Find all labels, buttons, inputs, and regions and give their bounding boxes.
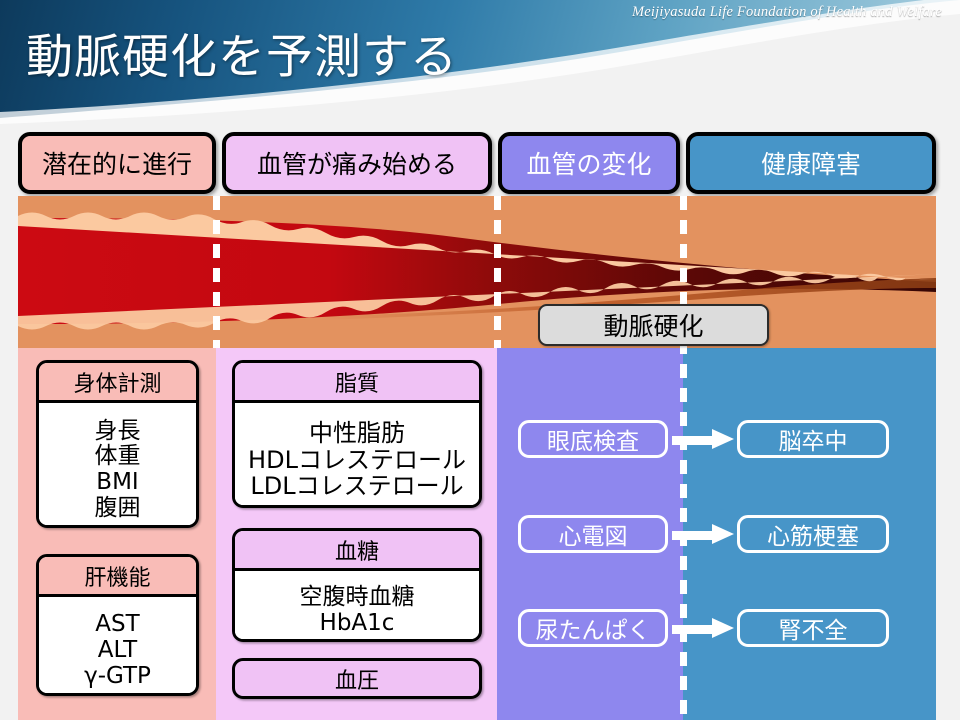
arrow-shaft bbox=[672, 625, 716, 634]
stage-box-latent-progression[interactable]: 潜在的に進行 bbox=[18, 132, 216, 194]
slide-canvas: Meijiyasuda Life Foundation of Health an… bbox=[0, 0, 960, 720]
list-item: LDLコレステロール bbox=[250, 473, 463, 500]
exam-outcome-row: 心電図 心筋梗塞 bbox=[0, 515, 960, 553]
page-title: 動脈硬化を予測する bbox=[26, 18, 458, 87]
outcome-box-stroke[interactable]: 脳卒中 bbox=[737, 420, 889, 458]
arrow-head bbox=[712, 524, 734, 544]
arteriosclerosis-callout: 動脈硬化 bbox=[538, 304, 769, 346]
test-group-card-blood-pressure[interactable]: 血圧 bbox=[232, 658, 482, 699]
arrow-head bbox=[712, 618, 734, 638]
stage-divider-3 bbox=[680, 196, 687, 720]
arrow-shaft bbox=[672, 436, 716, 445]
stage-box-health-impairment[interactable]: 健康障害 bbox=[686, 132, 936, 194]
exam-box-ecg[interactable]: 心電図 bbox=[518, 515, 668, 553]
slide-header-banner: Meijiyasuda Life Foundation of Health an… bbox=[0, 0, 960, 130]
stage-divider-2 bbox=[494, 196, 501, 348]
exam-outcome-row: 眼底検査 脳卒中 bbox=[0, 420, 960, 458]
artery-vessel-graphic bbox=[18, 196, 936, 348]
card-title: 肝機能 bbox=[39, 557, 196, 597]
exam-box-fundus-exam[interactable]: 眼底検査 bbox=[518, 420, 668, 458]
organization-name: Meijiyasuda Life Foundation of Health an… bbox=[632, 4, 942, 21]
arrow-shaft bbox=[672, 531, 716, 540]
list-item: BMI bbox=[96, 470, 138, 496]
card-title: 脂質 bbox=[235, 363, 479, 403]
arrow-head bbox=[712, 429, 734, 449]
list-item: γ-GTP bbox=[84, 664, 151, 690]
outcome-box-myocardial-infarction[interactable]: 心筋梗塞 bbox=[737, 515, 889, 553]
list-item: 空腹時血糖 bbox=[300, 585, 415, 611]
exam-box-urine-protein[interactable]: 尿たんぱく bbox=[518, 609, 668, 647]
exam-outcome-row: 尿たんぱく 腎不全 bbox=[0, 609, 960, 647]
stage-box-vessel-damage[interactable]: 血管が痛み始める bbox=[222, 132, 492, 194]
artery-cross-section-illustration bbox=[18, 196, 936, 348]
outcome-box-renal-failure[interactable]: 腎不全 bbox=[737, 609, 889, 647]
stage-divider-1 bbox=[213, 196, 220, 348]
card-title: 身体計測 bbox=[39, 363, 196, 403]
stage-box-vessel-change[interactable]: 血管の変化 bbox=[498, 132, 680, 194]
